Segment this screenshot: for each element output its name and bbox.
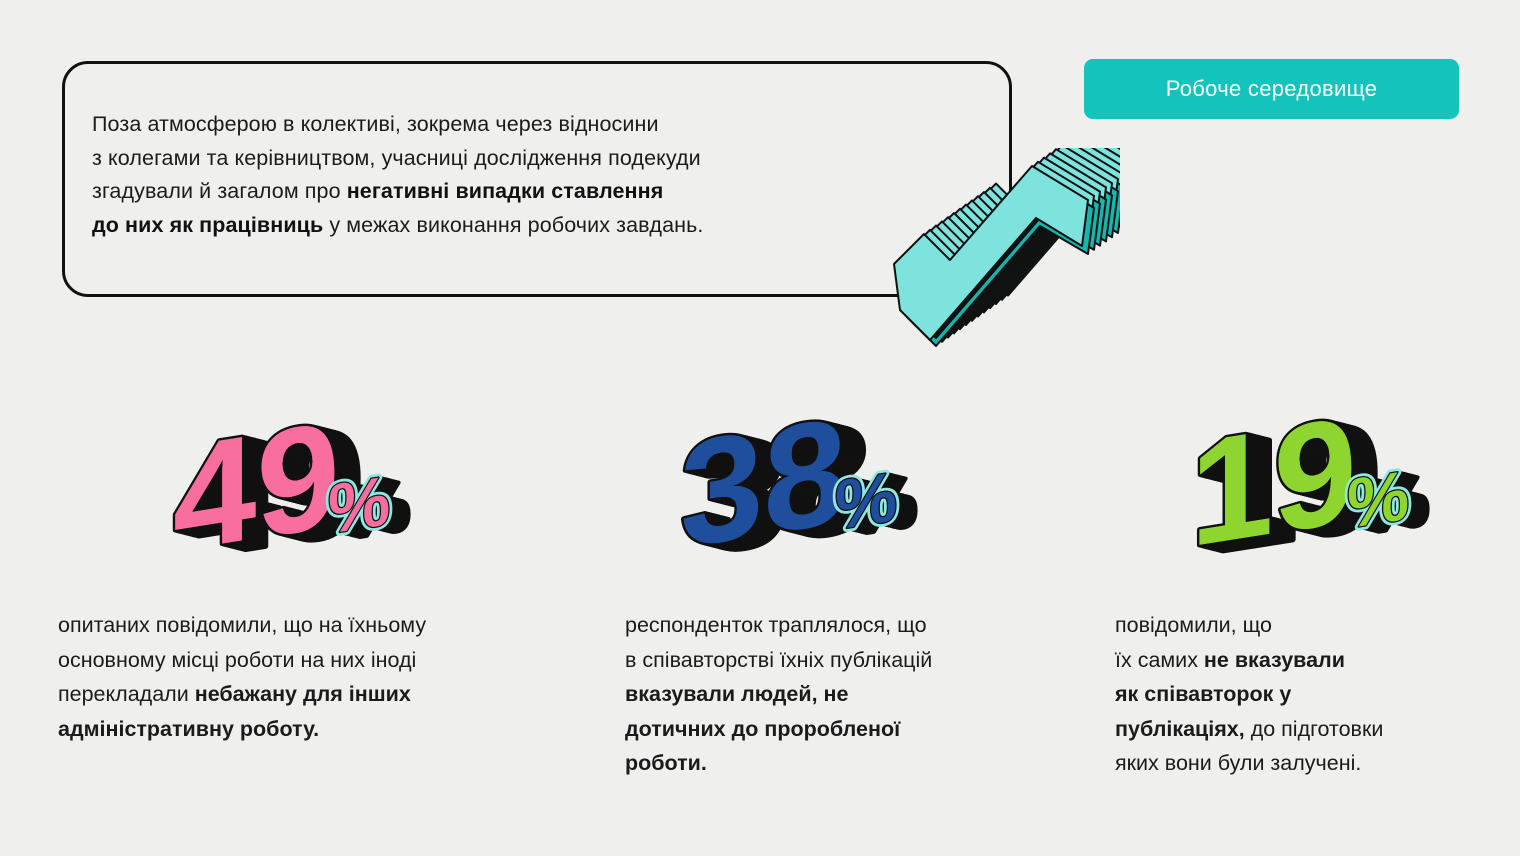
caption-line-4: до підготовки [1245,717,1384,741]
caption-line-1: повідомили, що [1115,613,1272,637]
stat-block-38: 3838383838383838383838383838383838383838… [610,400,1080,820]
section-badge-label: Робоче середовище [1166,76,1378,102]
svg-text:%: % [328,460,390,548]
stat-caption-49: опитаних повідомили, що на їхньому основ… [58,608,578,746]
stat-block-19: 1919191919191919191919191919191919191919… [1090,400,1520,820]
svg-text:%: % [1347,455,1409,543]
caption-bold-3: роботи. [625,751,707,775]
callout-text: Поза атмосферою в колективі, зокрема чер… [92,108,932,242]
caption-line-5: яких вони були залучені. [1115,751,1361,775]
stat-number-graphic-49: 4949494949494949494949494949494949494949… [38,400,508,605]
callout-bold-2: до них як працівниць [92,213,323,237]
caption-line-3: перекладали [58,682,195,706]
caption-bold-1: небажану для інших [195,682,411,706]
caption-bold-2: як співавторок у [1115,682,1291,706]
number-49-svg: 4949494949494949494949494949494949494949… [143,408,473,598]
number-19-svg: 1919191919191919191919191919191919191919… [1135,400,1485,600]
caption-line-1: респонденток траплялося, що [625,613,927,637]
caption-line-2: основному місці роботи на них іноді [58,648,416,672]
svg-text:19: 19 [1190,400,1357,578]
callout-line-1: Поза атмосферою в колективі, зокрема чер… [92,112,659,136]
caption-bold-1: не вказували [1204,648,1345,672]
stat-caption-38: респонденток траплялося, що в співавторс… [625,608,1055,781]
stat-caption-19: повідомили, що їх самих не вказували як … [1115,608,1495,781]
caption-bold-3: публікаціях, [1115,717,1245,741]
svg-text:38: 38 [680,408,847,579]
caption-bold-1: вказували людей, не [625,682,849,706]
caption-line-1: опитаних повідомили, що на їхньому [58,613,426,637]
section-badge: Робоче середовище [1084,59,1459,119]
caption-bold-2: дотичних до проробленої [625,717,900,741]
svg-text:49: 49 [173,408,340,583]
caption-line-2: їх самих [1115,648,1204,672]
caption-bold-2: адміністративну роботу. [58,717,319,741]
callout-line-2: з колегами та керівництвом, учасниці дос… [92,146,701,170]
number-38-svg: 3838383838383838383838383838383838383838… [625,408,975,598]
stat-number-graphic-38: 3838383838383838383838383838383838383838… [610,400,1080,605]
callout-line-4: у межах виконання робочих завдань. [323,213,703,237]
caption-line-2: в співавторстві їхніх публікацій [625,648,932,672]
svg-text:%: % [835,456,897,544]
stats-row: 4949494949494949494949494949494949494949… [0,400,1520,820]
stat-number-graphic-19: 1919191919191919191919191919191919191919… [1090,400,1520,605]
callout-bold-1: негативні випадки ставлення [347,179,664,203]
stat-block-49: 4949494949494949494949494949494949494949… [38,400,508,820]
callout-line-3: згадували й загалом про [92,179,347,203]
